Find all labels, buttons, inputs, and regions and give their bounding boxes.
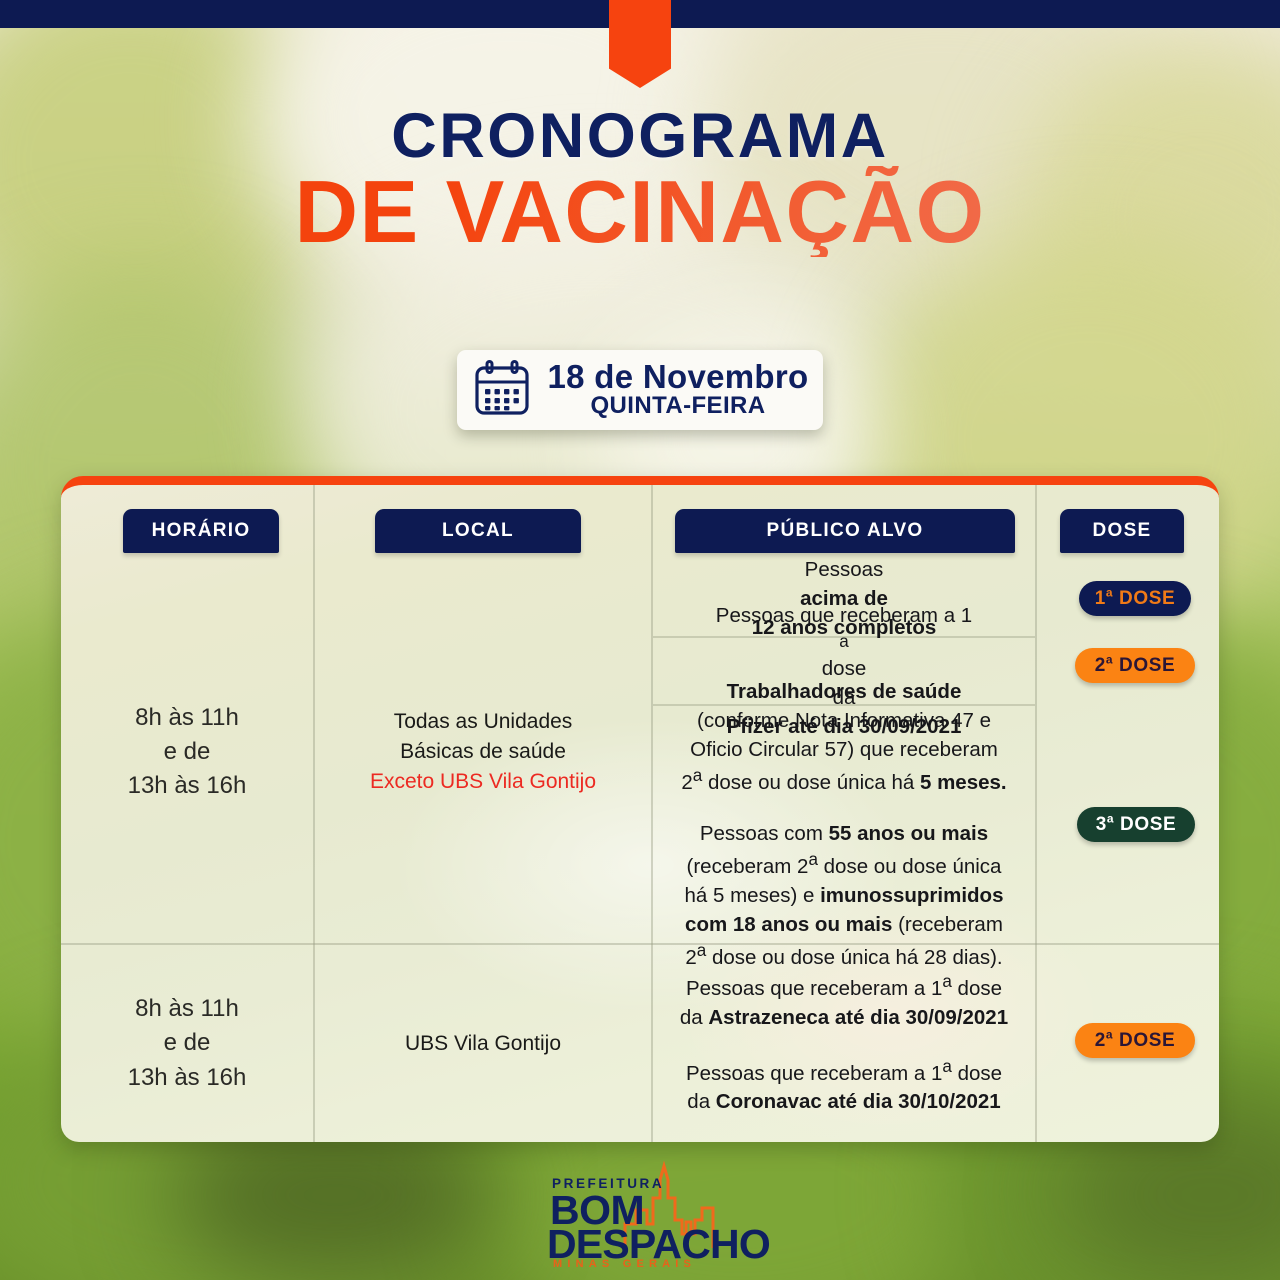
- header-dose-label: DOSE: [1092, 520, 1151, 542]
- dose-badge-row-4: 2a DOSE: [1075, 1023, 1195, 1058]
- weekday-value: QUINTA-FEIRA: [590, 392, 765, 419]
- cell-local-group-2: UBS Vila Gontijo: [315, 945, 651, 1142]
- dose-badge-row-3: 3a DOSE: [1077, 807, 1195, 842]
- cell-publico-row-4: Pessoas que receberam a 1a doseda Astraz…: [653, 945, 1035, 1142]
- dose-badge-label-1: 1a DOSE: [1095, 588, 1176, 610]
- horario-2-line-1: 8h às 11h: [135, 992, 239, 1026]
- horario-2-line-3: 13h às 16h: [128, 1061, 247, 1095]
- column-divider-3: [1035, 485, 1037, 1142]
- cell-publico-row-3: Trabalhadores de saúde(conforme Nota Inf…: [653, 706, 1035, 943]
- calendar-icon: [472, 360, 532, 418]
- cell-local-group-1: Todas as Unidades Básicas de saúde Excet…: [315, 561, 651, 943]
- title-line-2: DE VACINAÇÃO: [0, 166, 1280, 258]
- dose-badge-label-4: 2a DOSE: [1095, 1030, 1176, 1052]
- dose-badge-row-2: 2a DOSE: [1075, 648, 1195, 683]
- header-horario-label: HORÁRIO: [152, 520, 251, 542]
- header-publico-label: PÚBLICO ALVO: [766, 520, 923, 542]
- cell-horario-group-2: 8h às 11h e de 13h às 16h: [61, 945, 313, 1142]
- horario-line-2: e de: [164, 735, 211, 769]
- cell-horario-group-1: 8h às 11h e de 13h às 16h: [61, 561, 313, 943]
- date-badge: 18 de Novembro QUINTA-FEIRA: [457, 350, 823, 430]
- local-line-1: Todas as Unidades: [394, 707, 573, 737]
- header-horario: HORÁRIO: [123, 509, 279, 553]
- date-value: 18 de Novembro: [548, 358, 809, 395]
- city-hall-logo: PREFEITURA BOM DESPACHO MINAS GERAIS: [520, 1158, 760, 1270]
- header-publico-alvo: PÚBLICO ALVO: [675, 509, 1015, 553]
- dose-badge-label-2: 2a DOSE: [1095, 655, 1176, 677]
- header-local: LOCAL: [375, 509, 581, 553]
- schedule-table: HORÁRIO LOCAL PÚBLICO ALVO DOSE 8h às 11…: [61, 476, 1219, 1142]
- local-exception-note: Exceto UBS Vila Gontijo: [370, 767, 596, 797]
- logo-state: MINAS GERAIS: [553, 1258, 696, 1270]
- header-local-label: LOCAL: [442, 520, 514, 542]
- horario-line-1: 8h às 11h: [135, 701, 239, 735]
- header-dose: DOSE: [1060, 509, 1184, 553]
- local-2-line-1: UBS Vila Gontijo: [405, 1029, 561, 1059]
- horario-line-3: 13h às 16h: [128, 769, 247, 803]
- dose-badge-label-3: 3a DOSE: [1096, 814, 1177, 836]
- dose-badge-row-1: 1a DOSE: [1079, 581, 1191, 616]
- horario-2-line-2: e de: [164, 1026, 211, 1060]
- page-title: CRONOGRAMA DE VACINAÇÃO: [0, 104, 1280, 257]
- local-line-2: Básicas de saúde: [400, 737, 566, 767]
- title-line-1: CRONOGRAMA: [0, 104, 1280, 170]
